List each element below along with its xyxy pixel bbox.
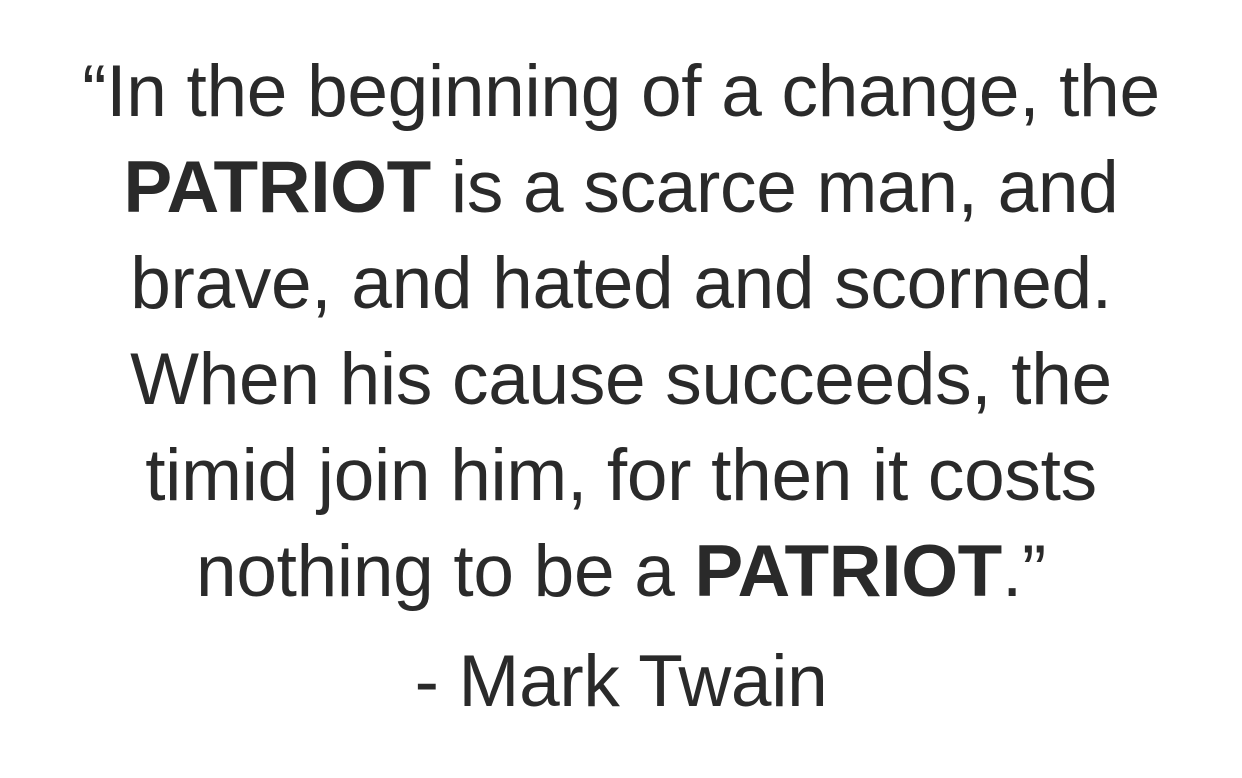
attribution-text: - Mark Twain — [415, 641, 828, 722]
quote-line-3-text: brave, and hated and scorned. — [130, 243, 1112, 324]
quote-line-6-text-tail: .” — [1002, 531, 1046, 612]
quote-line-6: nothing to be a PATRIOT.” — [56, 524, 1186, 620]
quote-line-3: brave, and hated and scorned. — [56, 236, 1186, 332]
quote-line-6-text-lead: nothing to be a — [196, 531, 695, 612]
quote-line-2-text: is a scarce man, and — [431, 147, 1119, 228]
quote-line-1-text: “In the beginning of a change, the — [82, 51, 1160, 132]
quote-line-4-text: When his cause succeeds, the — [130, 339, 1112, 420]
quote-line-5: timid join him, for then it costs — [56, 428, 1186, 524]
quote-line-4: When his cause succeeds, the — [56, 332, 1186, 428]
emphasis-word-patriot-second: PATRIOT — [695, 531, 1002, 612]
quote-line-1: “In the beginning of a change, the — [56, 44, 1186, 140]
emphasis-word-patriot-first: PATRIOT — [124, 147, 431, 228]
quote-text-block: “In the beginning of a change, the PATRI… — [56, 44, 1186, 620]
quote-line-5-text: timid join him, for then it costs — [145, 435, 1097, 516]
quote-line-2: PATRIOT is a scarce man, and — [56, 140, 1186, 236]
attribution-line: - Mark Twain — [56, 634, 1186, 730]
quote-card: “In the beginning of a change, the PATRI… — [0, 0, 1242, 778]
